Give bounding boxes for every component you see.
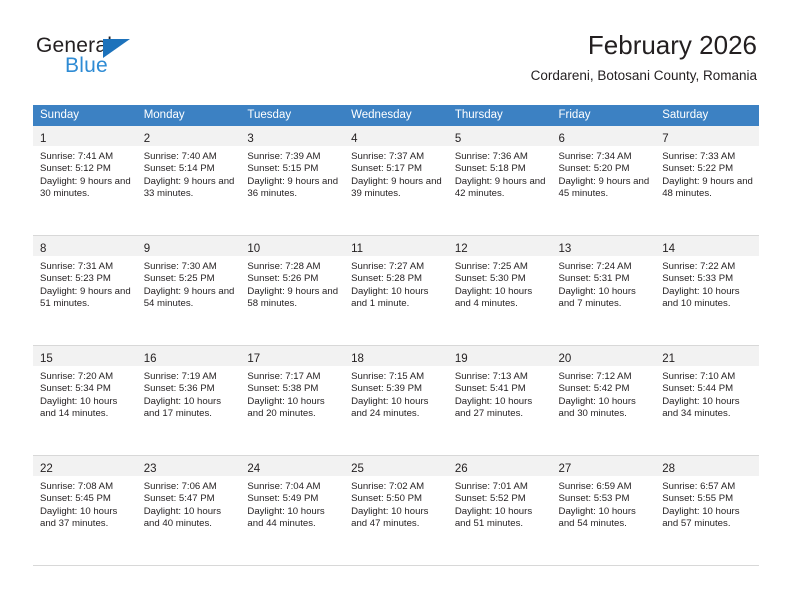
daylight-text: Daylight: 9 hours and 39 minutes. [351,176,442,201]
calendar-day-cell[interactable]: 8 Sunrise: 7:31 AM Sunset: 5:23 PM Dayli… [33,236,137,346]
sunrise-text: Sunrise: 7:10 AM [662,371,753,383]
sunset-text: Sunset: 5:23 PM [40,273,131,285]
sunrise-text: Sunrise: 6:57 AM [662,481,753,493]
day-info: Sunrise: 7:30 AM Sunset: 5:25 PM Dayligh… [137,256,241,311]
calendar-day-cell[interactable]: 23 Sunrise: 7:06 AM Sunset: 5:47 PM Dayl… [137,456,241,566]
day-number-bar: 14 [655,236,759,256]
sunrise-text: Sunrise: 7:41 AM [40,151,131,163]
sunset-text: Sunset: 5:20 PM [559,163,650,175]
calendar-day-cell[interactable]: 15 Sunrise: 7:20 AM Sunset: 5:34 PM Dayl… [33,346,137,456]
calendar-week-row: 22 Sunrise: 7:08 AM Sunset: 5:45 PM Dayl… [33,456,759,566]
calendar-week-row: 1 Sunrise: 7:41 AM Sunset: 5:12 PM Dayli… [33,126,759,236]
daylight-text: Daylight: 10 hours and 57 minutes. [662,506,753,531]
day-number: 8 [40,243,46,255]
day-number-bar: 16 [137,346,241,366]
sunrise-text: Sunrise: 7:19 AM [144,371,235,383]
day-info: Sunrise: 7:01 AM Sunset: 5:52 PM Dayligh… [448,476,552,531]
calendar-header-row: Sunday Monday Tuesday Wednesday Thursday… [33,105,759,126]
sunrise-text: Sunrise: 7:13 AM [455,371,546,383]
day-info: Sunrise: 7:39 AM Sunset: 5:15 PM Dayligh… [240,146,344,201]
weekday-header-sunday: Sunday [33,105,137,126]
sunset-text: Sunset: 5:17 PM [351,163,442,175]
sunset-text: Sunset: 5:49 PM [247,493,338,505]
calendar-day-cell[interactable]: 1 Sunrise: 7:41 AM Sunset: 5:12 PM Dayli… [33,126,137,236]
daylight-text: Daylight: 10 hours and 40 minutes. [144,506,235,531]
sunset-text: Sunset: 5:41 PM [455,383,546,395]
sunset-text: Sunset: 5:28 PM [351,273,442,285]
sunset-text: Sunset: 5:47 PM [144,493,235,505]
sunset-text: Sunset: 5:15 PM [247,163,338,175]
daylight-text: Daylight: 10 hours and 37 minutes. [40,506,131,531]
sunrise-text: Sunrise: 7:08 AM [40,481,131,493]
calendar-day-cell[interactable]: 11 Sunrise: 7:27 AM Sunset: 5:28 PM Dayl… [344,236,448,346]
day-number: 19 [455,353,468,365]
day-number-bar: 4 [344,126,448,146]
day-info: Sunrise: 7:34 AM Sunset: 5:20 PM Dayligh… [552,146,656,201]
page-title: February 2026 [531,28,757,62]
daylight-text: Daylight: 10 hours and 24 minutes. [351,396,442,421]
sunset-text: Sunset: 5:39 PM [351,383,442,395]
title-block: February 2026 Cordareni, Botosani County… [531,28,757,86]
sunset-text: Sunset: 5:45 PM [40,493,131,505]
day-info: Sunrise: 7:22 AM Sunset: 5:33 PM Dayligh… [655,256,759,311]
sunset-text: Sunset: 5:50 PM [351,493,442,505]
calendar-day-cell[interactable]: 9 Sunrise: 7:30 AM Sunset: 5:25 PM Dayli… [137,236,241,346]
sunrise-text: Sunrise: 7:37 AM [351,151,442,163]
day-number-bar: 7 [655,126,759,146]
sunrise-text: Sunrise: 7:28 AM [247,261,338,273]
day-number: 27 [559,463,572,475]
day-info: Sunrise: 7:27 AM Sunset: 5:28 PM Dayligh… [344,256,448,311]
day-number-bar: 23 [137,456,241,476]
sunset-text: Sunset: 5:25 PM [144,273,235,285]
day-info: Sunrise: 7:15 AM Sunset: 5:39 PM Dayligh… [344,366,448,421]
day-number-bar: 1 [33,126,137,146]
day-number-bar: 27 [552,456,656,476]
sunrise-text: Sunrise: 7:17 AM [247,371,338,383]
day-number: 22 [40,463,53,475]
daylight-text: Daylight: 10 hours and 14 minutes. [40,396,131,421]
day-info: Sunrise: 7:33 AM Sunset: 5:22 PM Dayligh… [655,146,759,201]
weekday-header-tuesday: Tuesday [240,105,344,126]
calendar-day-cell[interactable]: 18 Sunrise: 7:15 AM Sunset: 5:39 PM Dayl… [344,346,448,456]
day-number-bar: 8 [33,236,137,256]
day-number: 2 [144,133,150,145]
calendar-day-cell[interactable]: 7 Sunrise: 7:33 AM Sunset: 5:22 PM Dayli… [655,126,759,236]
day-number: 18 [351,353,364,365]
daylight-text: Daylight: 10 hours and 51 minutes. [455,506,546,531]
sunrise-text: Sunrise: 7:20 AM [40,371,131,383]
day-info: Sunrise: 6:59 AM Sunset: 5:53 PM Dayligh… [552,476,656,531]
sunrise-text: Sunrise: 7:25 AM [455,261,546,273]
day-number-bar: 9 [137,236,241,256]
daylight-text: Daylight: 10 hours and 1 minute. [351,286,442,311]
day-info: Sunrise: 7:40 AM Sunset: 5:14 PM Dayligh… [137,146,241,201]
day-number: 20 [559,353,572,365]
daylight-text: Daylight: 9 hours and 45 minutes. [559,176,650,201]
day-number-bar: 21 [655,346,759,366]
day-info: Sunrise: 7:12 AM Sunset: 5:42 PM Dayligh… [552,366,656,421]
sunset-text: Sunset: 5:36 PM [144,383,235,395]
day-info: Sunrise: 7:08 AM Sunset: 5:45 PM Dayligh… [33,476,137,531]
day-info: Sunrise: 7:06 AM Sunset: 5:47 PM Dayligh… [137,476,241,531]
logo-text-blue: Blue [65,54,108,78]
sunset-text: Sunset: 5:33 PM [662,273,753,285]
sunset-text: Sunset: 5:44 PM [662,383,753,395]
day-number-bar: 2 [137,126,241,146]
sunset-text: Sunset: 5:53 PM [559,493,650,505]
calendar-day-cell[interactable]: 2 Sunrise: 7:40 AM Sunset: 5:14 PM Dayli… [137,126,241,236]
day-number: 5 [455,133,461,145]
daylight-text: Daylight: 9 hours and 42 minutes. [455,176,546,201]
daylight-text: Daylight: 10 hours and 4 minutes. [455,286,546,311]
day-info: Sunrise: 6:57 AM Sunset: 5:55 PM Dayligh… [655,476,759,531]
day-number: 7 [662,133,668,145]
calendar-day-cell[interactable]: 21 Sunrise: 7:10 AM Sunset: 5:44 PM Dayl… [655,346,759,456]
sunset-text: Sunset: 5:31 PM [559,273,650,285]
day-info: Sunrise: 7:17 AM Sunset: 5:38 PM Dayligh… [240,366,344,421]
sunrise-text: Sunrise: 7:39 AM [247,151,338,163]
calendar-day-cell[interactable]: 6 Sunrise: 7:34 AM Sunset: 5:20 PM Dayli… [552,126,656,236]
day-number-bar: 19 [448,346,552,366]
sunset-text: Sunset: 5:30 PM [455,273,546,285]
sunrise-text: Sunrise: 7:34 AM [559,151,650,163]
day-number-bar: 3 [240,126,344,146]
calendar-day-cell[interactable]: 25 Sunrise: 7:02 AM Sunset: 5:50 PM Dayl… [344,456,448,566]
sunset-text: Sunset: 5:52 PM [455,493,546,505]
day-info: Sunrise: 7:25 AM Sunset: 5:30 PM Dayligh… [448,256,552,311]
calendar-day-cell[interactable]: 27 Sunrise: 6:59 AM Sunset: 5:53 PM Dayl… [552,456,656,566]
sunset-text: Sunset: 5:18 PM [455,163,546,175]
day-number: 12 [455,243,468,255]
day-number-bar: 12 [448,236,552,256]
day-info: Sunrise: 7:20 AM Sunset: 5:34 PM Dayligh… [33,366,137,421]
calendar-week-row: 8 Sunrise: 7:31 AM Sunset: 5:23 PM Dayli… [33,236,759,346]
day-info: Sunrise: 7:24 AM Sunset: 5:31 PM Dayligh… [552,256,656,311]
weekday-header-thursday: Thursday [448,105,552,126]
calendar-day-cell[interactable]: 22 Sunrise: 7:08 AM Sunset: 5:45 PM Dayl… [33,456,137,566]
calendar-week-row: 15 Sunrise: 7:20 AM Sunset: 5:34 PM Dayl… [33,346,759,456]
sunset-text: Sunset: 5:55 PM [662,493,753,505]
day-number: 11 [351,243,363,255]
daylight-text: Daylight: 10 hours and 27 minutes. [455,396,546,421]
day-info: Sunrise: 7:31 AM Sunset: 5:23 PM Dayligh… [33,256,137,311]
daylight-text: Daylight: 10 hours and 34 minutes. [662,396,753,421]
sunset-text: Sunset: 5:22 PM [662,163,753,175]
sunrise-text: Sunrise: 7:06 AM [144,481,235,493]
day-info: Sunrise: 7:13 AM Sunset: 5:41 PM Dayligh… [448,366,552,421]
day-info: Sunrise: 7:28 AM Sunset: 5:26 PM Dayligh… [240,256,344,311]
sunset-text: Sunset: 5:12 PM [40,163,131,175]
day-number: 4 [351,133,357,145]
day-number-bar: 26 [448,456,552,476]
day-number: 13 [559,243,572,255]
daylight-text: Daylight: 10 hours and 47 minutes. [351,506,442,531]
day-number: 14 [662,243,675,255]
day-number-bar: 6 [552,126,656,146]
day-number-bar: 24 [240,456,344,476]
day-info: Sunrise: 7:10 AM Sunset: 5:44 PM Dayligh… [655,366,759,421]
day-info: Sunrise: 7:19 AM Sunset: 5:36 PM Dayligh… [137,366,241,421]
calendar-day-cell[interactable]: 28 Sunrise: 6:57 AM Sunset: 5:55 PM Dayl… [655,456,759,566]
sunset-text: Sunset: 5:14 PM [144,163,235,175]
day-number: 25 [351,463,364,475]
day-number-bar: 22 [33,456,137,476]
sunrise-text: Sunrise: 7:27 AM [351,261,442,273]
calendar-day-cell[interactable]: 14 Sunrise: 7:22 AM Sunset: 5:33 PM Dayl… [655,236,759,346]
day-number-bar: 18 [344,346,448,366]
daylight-text: Daylight: 10 hours and 17 minutes. [144,396,235,421]
sunrise-text: Sunrise: 7:24 AM [559,261,650,273]
calendar-day-cell[interactable]: 19 Sunrise: 7:13 AM Sunset: 5:41 PM Dayl… [448,346,552,456]
calendar-day-cell[interactable]: 26 Sunrise: 7:01 AM Sunset: 5:52 PM Dayl… [448,456,552,566]
sunrise-text: Sunrise: 7:31 AM [40,261,131,273]
daylight-text: Daylight: 9 hours and 33 minutes. [144,176,235,201]
day-number: 26 [455,463,468,475]
day-number: 10 [247,243,260,255]
day-number-bar: 10 [240,236,344,256]
daylight-text: Daylight: 9 hours and 58 minutes. [247,286,338,311]
day-number: 9 [144,243,150,255]
sunrise-text: Sunrise: 7:12 AM [559,371,650,383]
daylight-text: Daylight: 9 hours and 36 minutes. [247,176,338,201]
day-info: Sunrise: 7:04 AM Sunset: 5:49 PM Dayligh… [240,476,344,531]
sunrise-text: Sunrise: 7:30 AM [144,261,235,273]
calendar-day-cell[interactable]: 20 Sunrise: 7:12 AM Sunset: 5:42 PM Dayl… [552,346,656,456]
day-info: Sunrise: 7:41 AM Sunset: 5:12 PM Dayligh… [33,146,137,201]
day-number: 3 [247,133,253,145]
daylight-text: Daylight: 10 hours and 30 minutes. [559,396,650,421]
calendar-day-cell[interactable]: 24 Sunrise: 7:04 AM Sunset: 5:49 PM Dayl… [240,456,344,566]
page-header: General Blue February 2026 Cordareni, Bo… [33,28,757,98]
day-number: 1 [40,133,46,145]
sunrise-text: Sunrise: 7:02 AM [351,481,442,493]
day-number-bar: 17 [240,346,344,366]
day-info: Sunrise: 7:37 AM Sunset: 5:17 PM Dayligh… [344,146,448,201]
day-number: 24 [247,463,260,475]
daylight-text: Daylight: 10 hours and 10 minutes. [662,286,753,311]
sunset-text: Sunset: 5:26 PM [247,273,338,285]
day-number-bar: 15 [33,346,137,366]
day-number: 15 [40,353,53,365]
daylight-text: Daylight: 10 hours and 54 minutes. [559,506,650,531]
sunset-text: Sunset: 5:34 PM [40,383,131,395]
sunrise-text: Sunrise: 7:33 AM [662,151,753,163]
calendar-day-cell[interactable]: 16 Sunrise: 7:19 AM Sunset: 5:36 PM Dayl… [137,346,241,456]
day-number-bar: 11 [344,236,448,256]
daylight-text: Daylight: 9 hours and 48 minutes. [662,176,753,201]
calendar-day-cell[interactable]: 5 Sunrise: 7:36 AM Sunset: 5:18 PM Dayli… [448,126,552,236]
calendar-day-cell[interactable]: 12 Sunrise: 7:25 AM Sunset: 5:30 PM Dayl… [448,236,552,346]
day-number: 21 [662,353,675,365]
day-number: 23 [144,463,157,475]
sunrise-text: Sunrise: 7:22 AM [662,261,753,273]
sunrise-sunset-calendar: Sunday Monday Tuesday Wednesday Thursday… [33,105,759,566]
sunset-text: Sunset: 5:38 PM [247,383,338,395]
calendar-day-cell[interactable]: 10 Sunrise: 7:28 AM Sunset: 5:26 PM Dayl… [240,236,344,346]
day-info: Sunrise: 7:02 AM Sunset: 5:50 PM Dayligh… [344,476,448,531]
weekday-header-wednesday: Wednesday [344,105,448,126]
daylight-text: Daylight: 10 hours and 44 minutes. [247,506,338,531]
calendar-day-cell[interactable]: 17 Sunrise: 7:17 AM Sunset: 5:38 PM Dayl… [240,346,344,456]
day-number: 16 [144,353,157,365]
weekday-header-friday: Friday [552,105,656,126]
calendar-body: 1 Sunrise: 7:41 AM Sunset: 5:12 PM Dayli… [33,126,759,566]
general-blue-logo[interactable]: General Blue [33,34,213,84]
daylight-text: Daylight: 9 hours and 54 minutes. [144,286,235,311]
daylight-text: Daylight: 9 hours and 51 minutes. [40,286,131,311]
day-number-bar: 13 [552,236,656,256]
daylight-text: Daylight: 10 hours and 20 minutes. [247,396,338,421]
sunset-text: Sunset: 5:42 PM [559,383,650,395]
day-number: 6 [559,133,565,145]
sunrise-text: Sunrise: 7:40 AM [144,151,235,163]
day-number-bar: 5 [448,126,552,146]
calendar-day-cell[interactable]: 13 Sunrise: 7:24 AM Sunset: 5:31 PM Dayl… [552,236,656,346]
calendar-page: General Blue February 2026 Cordareni, Bo… [0,0,792,612]
day-number-bar: 28 [655,456,759,476]
sunrise-text: Sunrise: 7:36 AM [455,151,546,163]
page-subtitle: Cordareni, Botosani County, Romania [531,66,757,86]
sunrise-text: Sunrise: 6:59 AM [559,481,650,493]
weekday-header-monday: Monday [137,105,241,126]
sunrise-text: Sunrise: 7:01 AM [455,481,546,493]
sunrise-text: Sunrise: 7:15 AM [351,371,442,383]
day-number-bar: 20 [552,346,656,366]
daylight-text: Daylight: 9 hours and 30 minutes. [40,176,131,201]
weekday-header-saturday: Saturday [655,105,759,126]
day-number: 28 [662,463,675,475]
day-number: 17 [247,353,260,365]
calendar-day-cell[interactable]: 4 Sunrise: 7:37 AM Sunset: 5:17 PM Dayli… [344,126,448,236]
calendar-day-cell[interactable]: 3 Sunrise: 7:39 AM Sunset: 5:15 PM Dayli… [240,126,344,236]
daylight-text: Daylight: 10 hours and 7 minutes. [559,286,650,311]
day-info: Sunrise: 7:36 AM Sunset: 5:18 PM Dayligh… [448,146,552,201]
sunrise-text: Sunrise: 7:04 AM [247,481,338,493]
day-number-bar: 25 [344,456,448,476]
